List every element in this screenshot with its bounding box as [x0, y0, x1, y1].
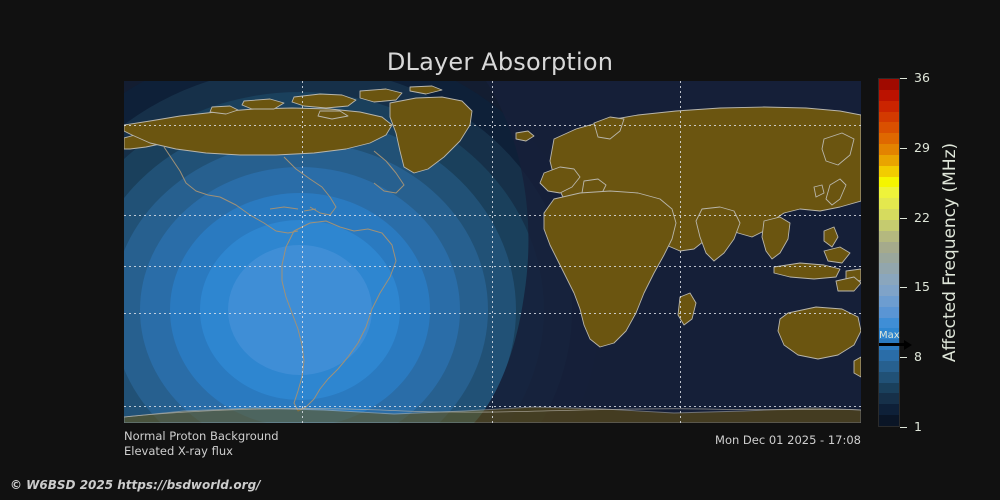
tick-dash-icon	[900, 218, 907, 219]
colorbar-band	[879, 415, 899, 426]
colorbar-band	[879, 383, 899, 394]
colorbar-band	[879, 177, 899, 188]
status-block: Normal Proton Background Elevated X-ray …	[124, 429, 279, 459]
colorbar-tick-label: 22	[914, 210, 930, 225]
colorbar-tick: 36	[900, 71, 930, 85]
footer-credit: © W6BSD 2025 https://bsdworld.org/	[10, 478, 261, 492]
colorbar-band	[879, 133, 899, 144]
colorbar-band	[879, 361, 899, 372]
colorbar-band	[879, 242, 899, 253]
colorbar-band	[879, 112, 899, 123]
colorbar-band	[879, 79, 899, 90]
colorbar-band	[879, 404, 899, 415]
colorbar-band	[879, 307, 899, 318]
colorbar-tick-label: 29	[914, 140, 930, 155]
colorbar-band	[879, 155, 899, 166]
colorbar-gradient	[878, 78, 900, 427]
colorbar-tick-label: 15	[914, 279, 930, 294]
colorbar-band	[879, 253, 899, 264]
tick-dash-icon	[900, 427, 907, 428]
colorbar-tick-label: 1	[914, 419, 922, 434]
colorbar-band	[879, 372, 899, 383]
page-title: DLayer Absorption	[0, 48, 1000, 76]
colorbar-band	[879, 122, 899, 133]
dlayer-absorption-map-app: DLayer Absorption	[0, 0, 1000, 500]
status-proton-background: Normal Proton Background	[124, 429, 279, 444]
colorbar-tick: 15	[900, 280, 930, 294]
colorbar-band	[879, 144, 899, 155]
colorbar-tick: 1	[900, 420, 922, 434]
colorbar-band	[879, 328, 899, 339]
colorbar-tick-label: 36	[914, 70, 930, 85]
colorbar-band	[879, 285, 899, 296]
colorbar-band	[879, 220, 899, 231]
colorbar-band	[879, 339, 899, 350]
colorbar-band	[879, 274, 899, 285]
colorbar-band	[879, 296, 899, 307]
tick-dash-icon	[900, 148, 907, 149]
colorbar-band	[879, 187, 899, 198]
colorbar-band	[879, 198, 899, 209]
status-xray-flux: Elevated X-ray flux	[124, 444, 279, 459]
colorbar-band	[879, 393, 899, 404]
tick-dash-icon	[900, 287, 907, 288]
timestamp: Mon Dec 01 2025 - 17:08	[560, 433, 861, 447]
tick-dash-icon	[900, 357, 907, 358]
colorbar-band	[879, 101, 899, 112]
world-map-svg	[124, 81, 861, 423]
tick-dash-icon	[900, 78, 907, 79]
world-map-panel[interactable]	[124, 81, 861, 423]
colorbar-band	[879, 318, 899, 329]
colorbar-axis-label: Affected Frequency (MHz)	[938, 78, 962, 427]
colorbar-tick: 22	[900, 211, 930, 225]
colorbar[interactable]	[878, 78, 900, 427]
colorbar-tick-label: 8	[914, 349, 922, 364]
colorbar-band	[879, 209, 899, 220]
colorbar-band	[879, 231, 899, 242]
colorbar-band	[879, 350, 899, 361]
colorbar-tick: 29	[900, 141, 930, 155]
colorbar-tick: 8	[900, 350, 922, 364]
colorbar-band	[879, 90, 899, 101]
colorbar-band	[879, 166, 899, 177]
colorbar-band	[879, 263, 899, 274]
